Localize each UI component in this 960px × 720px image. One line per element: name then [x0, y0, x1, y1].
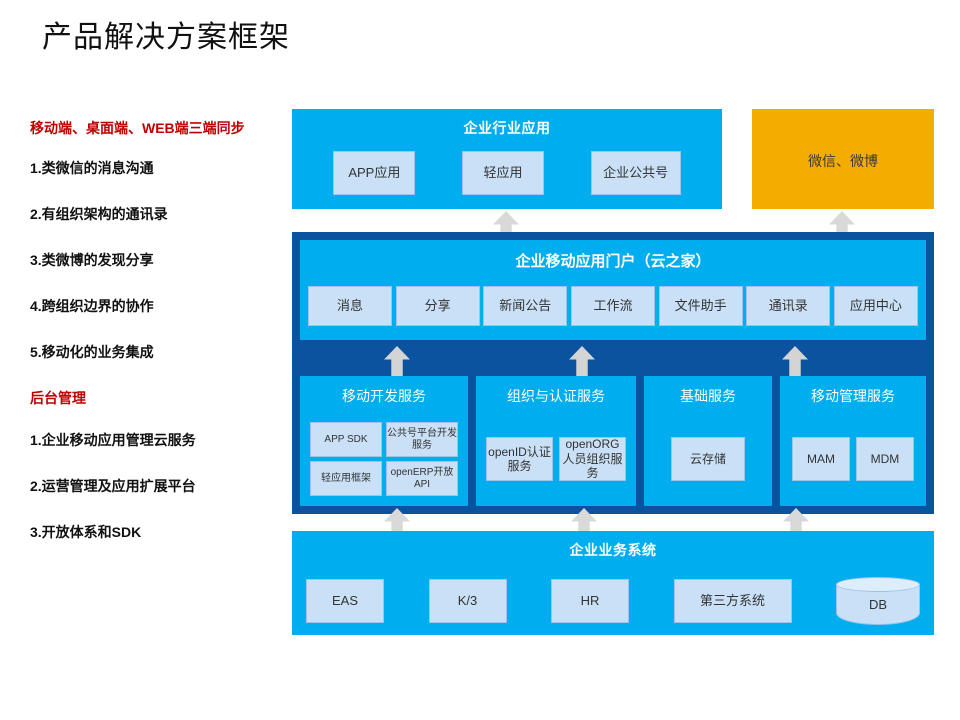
left-heading-sync: 移动端、桌面端、WEB端三端同步	[30, 118, 292, 138]
tile-openorg-personnel-service[interactable]: openORG人员组织服务	[559, 437, 626, 481]
arrow-up-icon-services-to-portal-1	[384, 346, 410, 376]
tile-public-account-platform-dev-service[interactable]: 公共号平台开发服务	[386, 422, 458, 457]
left-item-3: 3.类微博的发现分享	[30, 250, 292, 270]
business-systems-panel: 企业业务系统 EAS K/3 HR 第三方系统 DB	[292, 531, 934, 635]
service-panel-mobile-management: 移动管理服务 MAM MDM	[780, 376, 926, 506]
left-heading-backend: 后台管理	[30, 388, 292, 408]
portal-tile-contacts[interactable]: 通讯录	[746, 286, 830, 326]
left-backend-item-3: 3.开放体系和SDK	[30, 522, 292, 542]
org-auth-tiles: openID认证服务 openORG人员组织服务	[486, 422, 626, 496]
tile-light-app-framework[interactable]: 轻应用框架	[310, 461, 382, 496]
mobile-portal-title: 企业移动应用门户（云之家）	[300, 240, 926, 271]
left-item-1: 1.类微信的消息沟通	[30, 158, 292, 178]
service-panel-basic: 基础服务 云存储	[644, 376, 772, 506]
basic-service-tiles: 云存储	[654, 422, 762, 496]
services-row: 移动开发服务 APP SDK 公共号平台开发服务 轻应用框架 openERP开放…	[300, 376, 926, 506]
portal-tile-workflow[interactable]: 工作流	[571, 286, 655, 326]
mobile-management-tiles: MAM MDM	[790, 422, 916, 496]
left-item-5: 5.移动化的业务集成	[30, 342, 292, 362]
service-title-org-auth: 组织与认证服务	[476, 376, 636, 406]
tile-enterprise-public-account[interactable]: 企业公共号	[591, 151, 681, 195]
tile-hr[interactable]: HR	[551, 579, 629, 623]
database-cylinder-icon[interactable]: DB	[836, 577, 920, 625]
tile-openerp-open-api[interactable]: openERP开放API	[386, 461, 458, 496]
tile-mdm[interactable]: MDM	[856, 437, 914, 481]
arrow-up-icon-services-to-portal-3	[782, 346, 808, 376]
left-backend-item-2: 2.运营管理及应用扩展平台	[30, 476, 292, 496]
mobile-portal-tiles: 消息 分享 新闻公告 工作流 文件助手 通讯录 应用中心	[308, 286, 918, 326]
left-backend-item-1: 1.企业移动应用管理云服务	[30, 430, 292, 450]
service-panel-org-auth: 组织与认证服务 openID认证服务 openORG人员组织服务	[476, 376, 636, 506]
mobile-portal-panel: 企业移动应用门户（云之家） 消息 分享 新闻公告 工作流 文件助手 通讯录 应用…	[300, 240, 926, 340]
service-title-mobile-management: 移动管理服务	[780, 376, 926, 406]
tile-cloud-storage[interactable]: 云存储	[671, 437, 745, 481]
mobile-development-tiles: APP SDK 公共号平台开发服务 轻应用框架 openERP开放API	[310, 422, 458, 496]
tile-mam[interactable]: MAM	[792, 437, 850, 481]
social-channels-label: 微信、微博	[752, 109, 934, 171]
tile-light-application[interactable]: 轻应用	[462, 151, 544, 195]
db-cylinder-top	[836, 577, 920, 592]
tile-app-application[interactable]: APP应用	[333, 151, 415, 195]
business-systems-tiles: EAS K/3 HR 第三方系统 DB	[306, 577, 920, 625]
left-feature-list: 移动端、桌面端、WEB端三端同步 1.类微信的消息沟通 2.有组织架构的通讯录 …	[30, 118, 292, 568]
social-channels-panel: 微信、微博	[752, 109, 934, 209]
tile-k3[interactable]: K/3	[429, 579, 507, 623]
service-panel-mobile-development: 移动开发服务 APP SDK 公共号平台开发服务 轻应用框架 openERP开放…	[300, 376, 468, 506]
industry-apps-tiles: APP应用 轻应用 企业公共号	[292, 151, 722, 195]
tile-eas[interactable]: EAS	[306, 579, 384, 623]
industry-apps-panel: 企业行业应用 APP应用 轻应用 企业公共号	[292, 109, 722, 209]
portal-tile-share[interactable]: 分享	[396, 286, 480, 326]
tile-app-sdk[interactable]: APP SDK	[310, 422, 382, 457]
core-platform-container: 企业移动应用门户（云之家） 消息 分享 新闻公告 工作流 文件助手 通讯录 应用…	[292, 232, 934, 514]
db-label: DB	[836, 597, 920, 612]
portal-tile-app-center[interactable]: 应用中心	[834, 286, 918, 326]
left-item-4: 4.跨组织边界的协作	[30, 296, 292, 316]
portal-tile-messages[interactable]: 消息	[308, 286, 392, 326]
arrow-up-icon-services-to-portal-2	[569, 346, 595, 376]
page-title: 产品解决方案框架	[42, 12, 290, 56]
service-title-mobile-development: 移动开发服务	[300, 376, 468, 406]
business-systems-title: 企业业务系统	[292, 531, 934, 560]
left-item-2: 2.有组织架构的通讯录	[30, 204, 292, 224]
service-title-basic: 基础服务	[644, 376, 772, 406]
portal-tile-file-assistant[interactable]: 文件助手	[659, 286, 743, 326]
portal-tile-news[interactable]: 新闻公告	[483, 286, 567, 326]
tile-third-party-system[interactable]: 第三方系统	[674, 579, 792, 623]
tile-openid-auth-service[interactable]: openID认证服务	[486, 437, 553, 481]
industry-apps-title: 企业行业应用	[292, 109, 722, 138]
